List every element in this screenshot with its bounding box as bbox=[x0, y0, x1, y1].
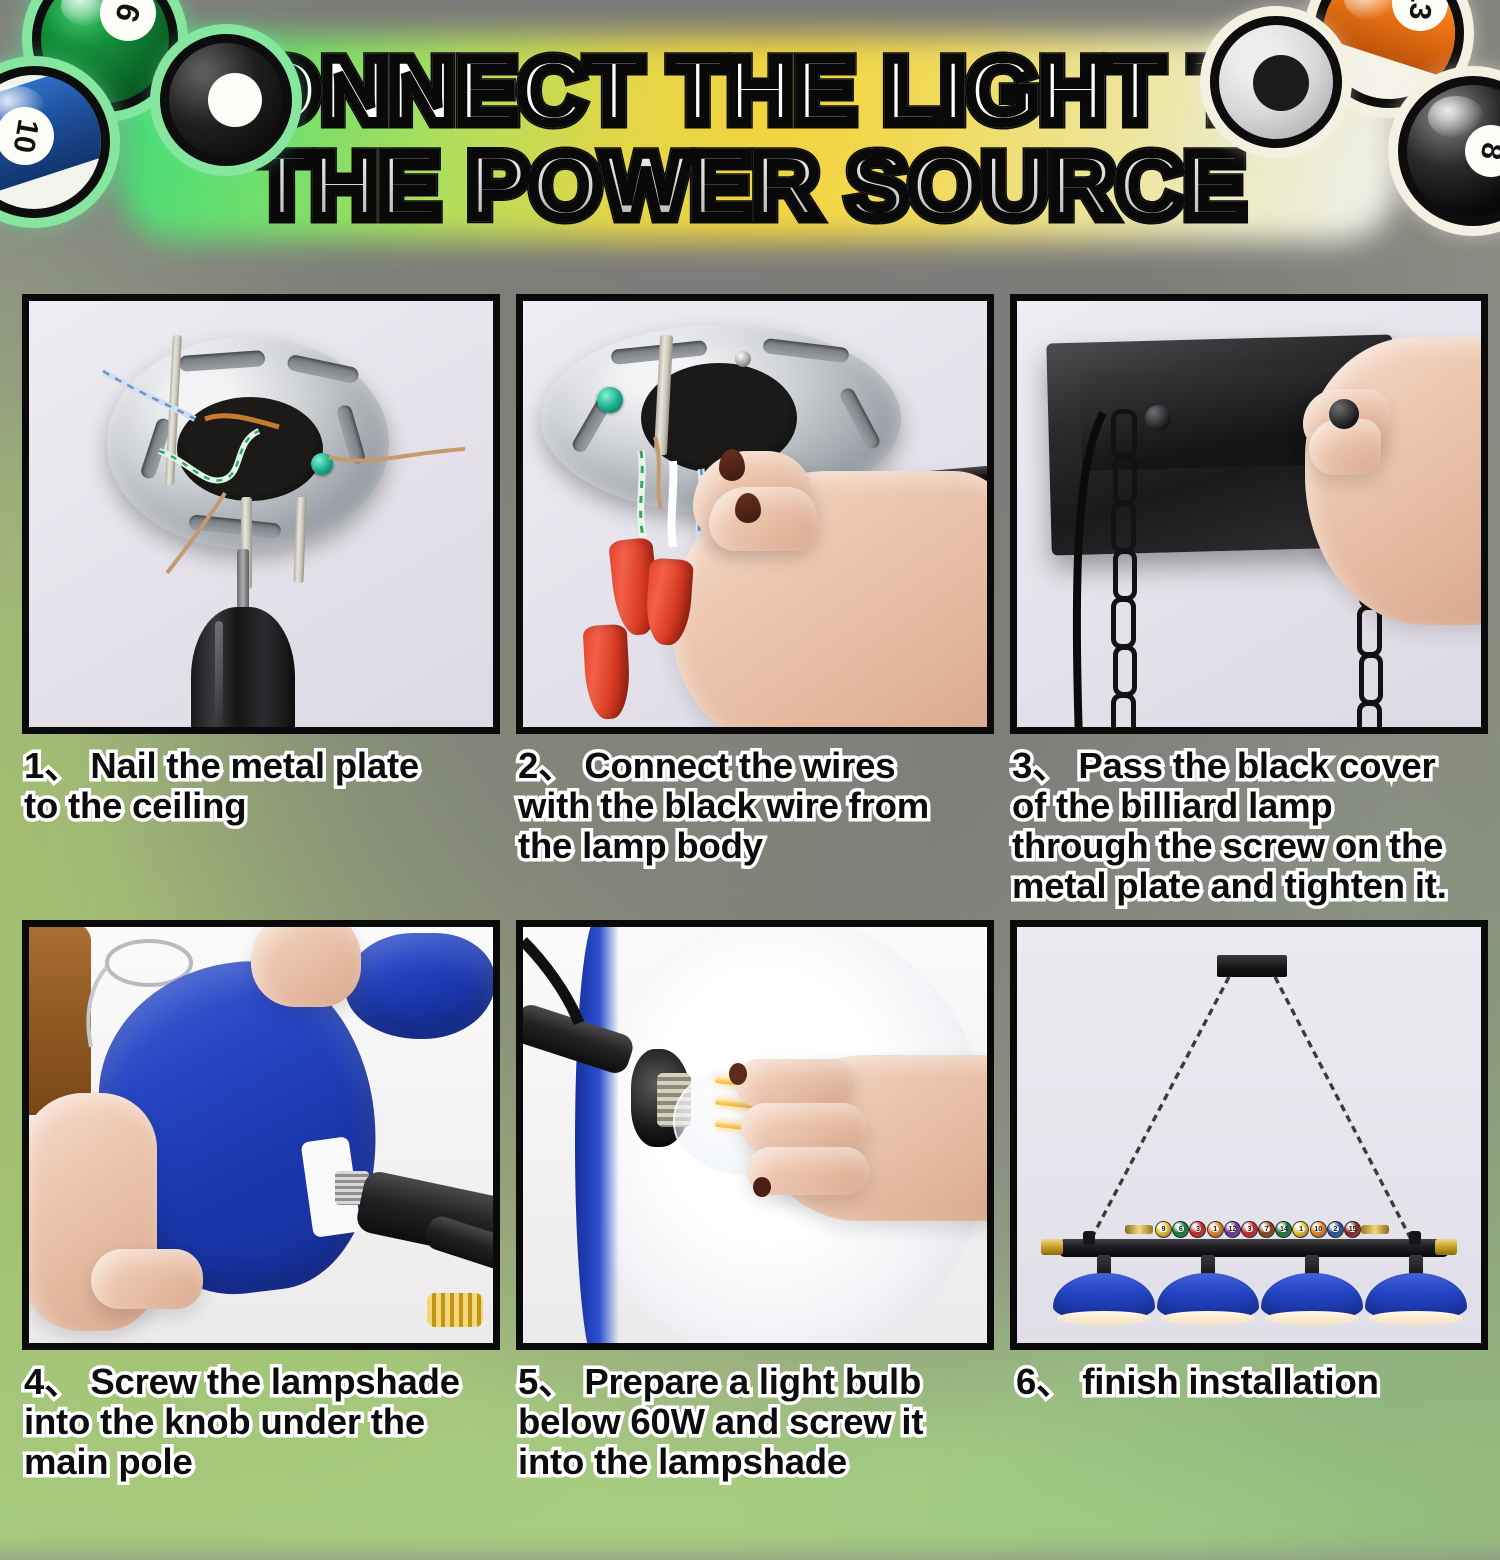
rack-ball-number: 10 bbox=[1315, 1226, 1322, 1233]
rack-ball: 10 bbox=[1310, 1221, 1327, 1238]
rack-ball-number: 7 bbox=[1263, 1226, 1270, 1233]
steps-grid: 1、 Nail the metal plate to the ceiling bbox=[0, 272, 1500, 1500]
rack-ornament-right bbox=[1361, 1225, 1389, 1234]
step-6-caption: 6、 finish installation bbox=[1016, 1362, 1500, 1402]
pendant-lip bbox=[1057, 1311, 1151, 1325]
step-2-cell: 2、 Connect the wires with the black wire… bbox=[516, 294, 994, 894]
step-4-photo bbox=[22, 920, 500, 1350]
brass-knob bbox=[427, 1293, 483, 1327]
chain-mount-right bbox=[1409, 1231, 1421, 1245]
step-4-caption: 4、 Screw the lampshade into the knob und… bbox=[24, 1362, 512, 1482]
ball-partial-left-icon bbox=[160, 34, 292, 166]
rack-ball-number: 14 bbox=[1280, 1226, 1287, 1233]
rack-ball-number: 3 bbox=[1246, 1226, 1253, 1233]
finger-index bbox=[709, 487, 817, 551]
step-3-photo bbox=[1010, 294, 1488, 734]
pendant-3 bbox=[1257, 1255, 1367, 1331]
rack-ball: 3 bbox=[1189, 1221, 1206, 1238]
rack-ball-number: 9 bbox=[1160, 1226, 1167, 1233]
rack-ball: 3 bbox=[1241, 1221, 1258, 1238]
step-4-cell: 4、 Screw the lampshade into the knob und… bbox=[22, 920, 500, 1480]
bar-end-cap-left bbox=[1041, 1239, 1063, 1255]
step-2-caption: 2、 Connect the wires with the black wire… bbox=[518, 746, 1008, 866]
ball-10-blue-icon: 10 bbox=[0, 66, 110, 218]
step-5-photo bbox=[516, 920, 994, 1350]
rack-ornament-left bbox=[1125, 1225, 1153, 1234]
pendant-lip bbox=[1161, 1311, 1255, 1325]
ball-6-number: 6 bbox=[94, 0, 163, 48]
nail-polish bbox=[735, 493, 761, 523]
rack-ball-number: 15 bbox=[1349, 1226, 1356, 1233]
pendant-lip bbox=[1369, 1311, 1463, 1325]
rack-ball: 2 bbox=[1327, 1221, 1344, 1238]
hand-upper bbox=[251, 920, 361, 1007]
power-drill bbox=[191, 607, 295, 734]
rack-ball: 14 bbox=[1275, 1221, 1292, 1238]
rack-ball: 1 bbox=[1207, 1221, 1224, 1238]
ball-partial-number bbox=[1253, 55, 1309, 111]
pendant-2 bbox=[1153, 1255, 1263, 1331]
step-1-cell: 1、 Nail the metal plate to the ceiling bbox=[22, 294, 500, 894]
ball-partial-number bbox=[208, 73, 262, 127]
rack-ball-number: 2 bbox=[1332, 1226, 1339, 1233]
step-6-photo: 9631123714110215 bbox=[1010, 920, 1488, 1350]
nail-polish bbox=[729, 1063, 747, 1085]
decor-balls-left: 6 10 bbox=[0, 0, 222, 232]
chain-mount-left bbox=[1083, 1231, 1095, 1245]
step-1-caption: 1、 Nail the metal plate to the ceiling bbox=[24, 746, 510, 826]
header-banner: CONNECT THE LIGHT TO THE POWER SOURCE CO… bbox=[0, 0, 1500, 262]
ball-partial-right-icon bbox=[1210, 16, 1342, 148]
pendant-4 bbox=[1361, 1255, 1471, 1331]
step-6-cell: 9631123714110215 bbox=[1010, 920, 1488, 1480]
finger-index bbox=[735, 1059, 855, 1107]
finger-middle bbox=[741, 1103, 867, 1153]
drill-highlight bbox=[215, 621, 223, 733]
nail-polish bbox=[719, 449, 745, 481]
step-3-caption: 3、 Pass the black cover of the billiard … bbox=[1012, 746, 1500, 906]
rack-ball: 12 bbox=[1224, 1221, 1241, 1238]
blue-lampshade-secondary bbox=[345, 933, 495, 1039]
rack-ball-number: 6 bbox=[1177, 1226, 1184, 1233]
rack-ball: 1 bbox=[1292, 1221, 1309, 1238]
rack-ball: 15 bbox=[1344, 1221, 1361, 1238]
nail-polish bbox=[753, 1177, 771, 1197]
knob-in-hand bbox=[1329, 399, 1359, 429]
rack-ball-number: 1 bbox=[1298, 1226, 1305, 1233]
step-5-cell: 5、 Prepare a light bulb below 60W and sc… bbox=[516, 920, 994, 1480]
step-5-caption: 5、 Prepare a light bulb below 60W and sc… bbox=[518, 1362, 1008, 1482]
step-3-cell: 3、 Pass the black cover of the billiard … bbox=[1010, 294, 1488, 914]
pendant-lip bbox=[1265, 1311, 1359, 1325]
rack-ball: 9 bbox=[1155, 1221, 1172, 1238]
rack-ball-number: 1 bbox=[1212, 1226, 1219, 1233]
step-2-photo bbox=[516, 294, 994, 734]
step-1-photo bbox=[22, 294, 500, 734]
rack-ball-number: 3 bbox=[1195, 1226, 1202, 1233]
decor-balls-right: 13 8 bbox=[1270, 0, 1500, 240]
pendant-1 bbox=[1049, 1255, 1159, 1331]
rack-ball: 7 bbox=[1258, 1221, 1275, 1238]
rack-ball-number: 12 bbox=[1229, 1226, 1236, 1233]
bar-end-cap-right bbox=[1435, 1239, 1457, 1255]
rack-ball: 6 bbox=[1172, 1221, 1189, 1238]
finger bbox=[91, 1249, 203, 1309]
